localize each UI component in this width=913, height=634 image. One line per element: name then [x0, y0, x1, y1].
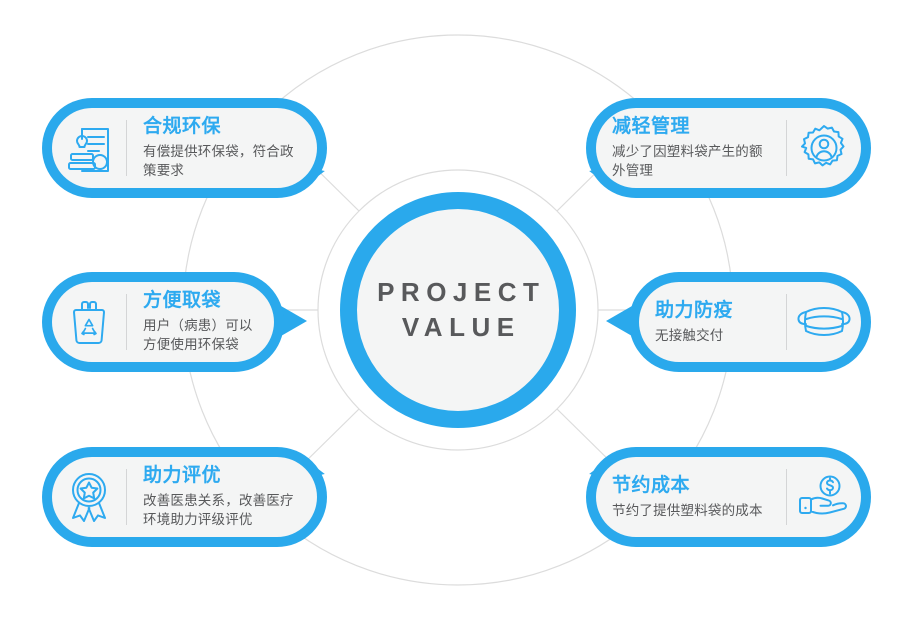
center-medallion: PROJECT VALUE	[340, 192, 576, 428]
card-title: 助力防疫	[655, 299, 772, 323]
face-mask-icon	[787, 301, 861, 343]
card-title: 节约成本	[612, 474, 772, 498]
card-title: 减轻管理	[612, 115, 772, 139]
card-description: 节约了提供塑料袋的成本	[612, 501, 772, 521]
center-title-line1: PROJECT	[371, 275, 546, 310]
card-management[interactable]: 减轻管理 减少了因塑料袋产生的额外管理	[586, 98, 871, 198]
gear-person-icon	[787, 123, 861, 173]
tail-convenience	[281, 306, 307, 336]
center-title-line2: VALUE	[395, 310, 520, 345]
card-description: 有偿提供环保袋，符合政策要求	[143, 142, 303, 181]
card-convenience[interactable]: 方便取袋 用户（病患）可以方便使用环保袋	[42, 272, 284, 372]
card-description: 用户（病患）可以方便使用环保袋	[143, 316, 260, 355]
card-epidemic[interactable]: 助力防疫 无接触交付	[629, 272, 871, 372]
hand-money-icon	[787, 474, 861, 520]
card-title: 助力评优	[143, 464, 303, 488]
card-compliance[interactable]: 合规环保 有偿提供环保袋，符合政策要求	[42, 98, 327, 198]
recycle-bag-icon	[52, 297, 126, 347]
card-description: 无接触交付	[655, 326, 772, 346]
stamped-document-icon	[52, 123, 126, 173]
infographic-canvas: PROJECT VALUE 合规环保 有	[0, 0, 913, 634]
card-description: 减少了因塑料袋产生的额外管理	[612, 142, 772, 181]
card-description: 改善医患关系，改善医疗环境助力评级评优	[143, 491, 303, 530]
card-rating[interactable]: 助力评优 改善医患关系，改善医疗环境助力评级评优	[42, 447, 327, 547]
card-title: 合规环保	[143, 115, 303, 139]
card-cost[interactable]: 节约成本 节约了提供塑料袋的成本	[586, 447, 871, 547]
card-title: 方便取袋	[143, 289, 260, 313]
award-medal-icon	[52, 471, 126, 523]
